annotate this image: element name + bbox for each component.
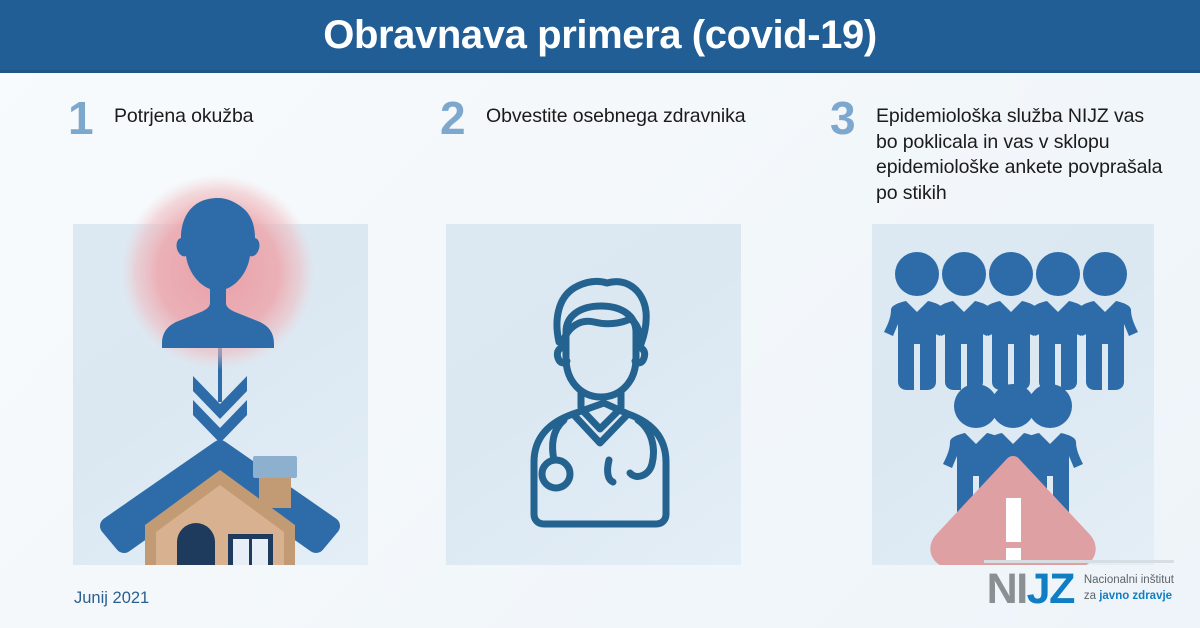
header-bar: Obravnava primera (covid-19) [0,0,1200,73]
step-3-text: Epidemiološka služba NIJZ vas bo poklica… [876,100,1170,207]
logo-mark-jz: JZ [1027,565,1074,613]
crowd-back-row [884,252,1138,390]
house-door-icon [177,523,215,565]
logo-wordmark: NIJZ [987,568,1074,611]
stethoscope-tube-right-icon [630,420,653,476]
step-3-number: 3 [830,100,862,138]
logo-tagline-strong: javno zdravje [1099,590,1172,602]
step-1-text: Potrjena okužba [114,100,253,130]
house-window-pane-left-icon [233,539,249,565]
step-3-header: 3 Epidemiološka služba NIJZ vas bo pokli… [830,100,1170,207]
logo-tagline-line-2: za javno zdravje [1084,589,1174,604]
nijz-logo: NIJZ Nacionalni inštitut za javno zdravj… [987,568,1174,611]
step-1-number: 1 [68,100,100,138]
step-2-illustration-panel [446,224,741,565]
person-icon [1072,252,1138,390]
exclamation-stem-icon [1006,498,1021,542]
step-1-header: 1 Potrjena okužba [68,100,398,138]
page-title: Obravnava primera (covid-19) [323,15,876,55]
step-3-illustration-panel [872,224,1154,565]
stethoscope-earpiece-left-icon [608,460,613,482]
logo-tagline-line-1: Nacionalni inštitut [1084,573,1174,588]
crowd-with-warning-illustration [872,224,1154,565]
step-2-header: 2 Obvestite osebnega zdravnika [440,100,770,138]
publication-date: Junij 2021 [74,589,149,608]
infographic-poster: Obravnava primera (covid-19) 1 Potrjena … [0,0,1200,628]
step-2-number: 2 [440,100,472,138]
stethoscope-tube-left-icon [553,420,564,460]
chimney-cap-icon [253,456,297,478]
stethoscope-bell-icon [542,460,570,488]
house-window-pane-right-icon [252,539,268,565]
logo-tagline-prefix: za [1084,590,1099,602]
logo-tagline: Nacionalni inštitut za javno zdravje [1084,573,1174,605]
logo-mark-ni: NI [987,565,1027,613]
infected-person-badge [118,172,318,372]
step-2-text: Obvestite osebnega zdravnika [486,100,746,130]
person-with-infection-glow-icon [118,172,318,372]
doctor-illustration [446,224,741,565]
logo-divider [984,560,1174,563]
